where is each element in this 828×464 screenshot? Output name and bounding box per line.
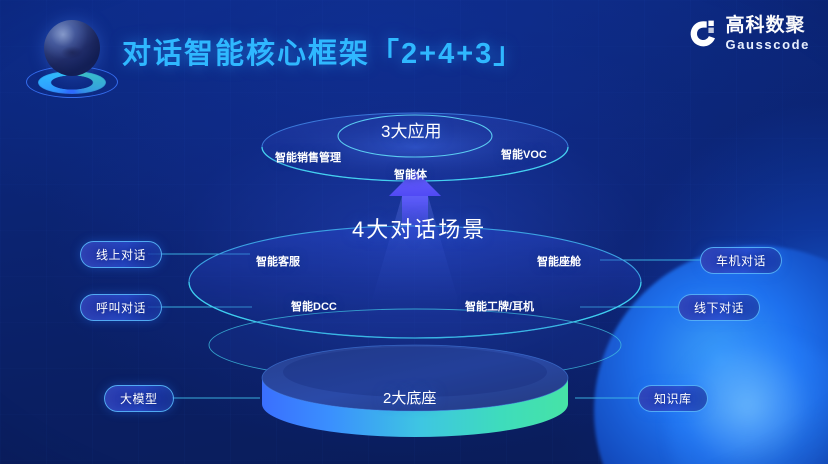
app-item-sales-management: 智能销售管理 [275, 149, 341, 165]
framework-diagram: 3大应用 4大对话场景 2大底座 智能销售管理 智能VOC 智能体 智能客服 智… [0, 0, 828, 464]
scenario-item-cockpit: 智能座舱 [537, 253, 581, 269]
pill-knowledge-base[interactable]: 知识库 [638, 385, 708, 412]
scenario-item-badge-headset: 智能工牌/耳机 [465, 298, 534, 314]
slide-canvas: 对话智能核心框架「2+4+3」 高科数聚 Gausscode [0, 0, 828, 464]
pill-online-dialogue[interactable]: 线上对话 [80, 241, 162, 268]
tier-foundations-shape [209, 309, 621, 437]
tier-title-applications: 3大应用 [381, 117, 441, 142]
pill-invehicle-dialogue[interactable]: 车机对话 [700, 247, 782, 274]
tier-title-scenarios: 4大对话场景 [352, 212, 486, 244]
pill-large-model[interactable]: 大模型 [104, 385, 174, 412]
tier-title-foundations: 2大底座 [383, 387, 436, 408]
app-item-agent: 智能体 [394, 166, 427, 182]
pill-call-dialogue[interactable]: 呼叫对话 [80, 294, 162, 321]
scenario-item-customer-service: 智能客服 [256, 253, 300, 269]
app-item-voc: 智能VOC [501, 146, 547, 162]
scenario-item-dcc: 智能DCC [291, 298, 337, 314]
pill-offline-dialogue[interactable]: 线下对话 [678, 294, 760, 321]
